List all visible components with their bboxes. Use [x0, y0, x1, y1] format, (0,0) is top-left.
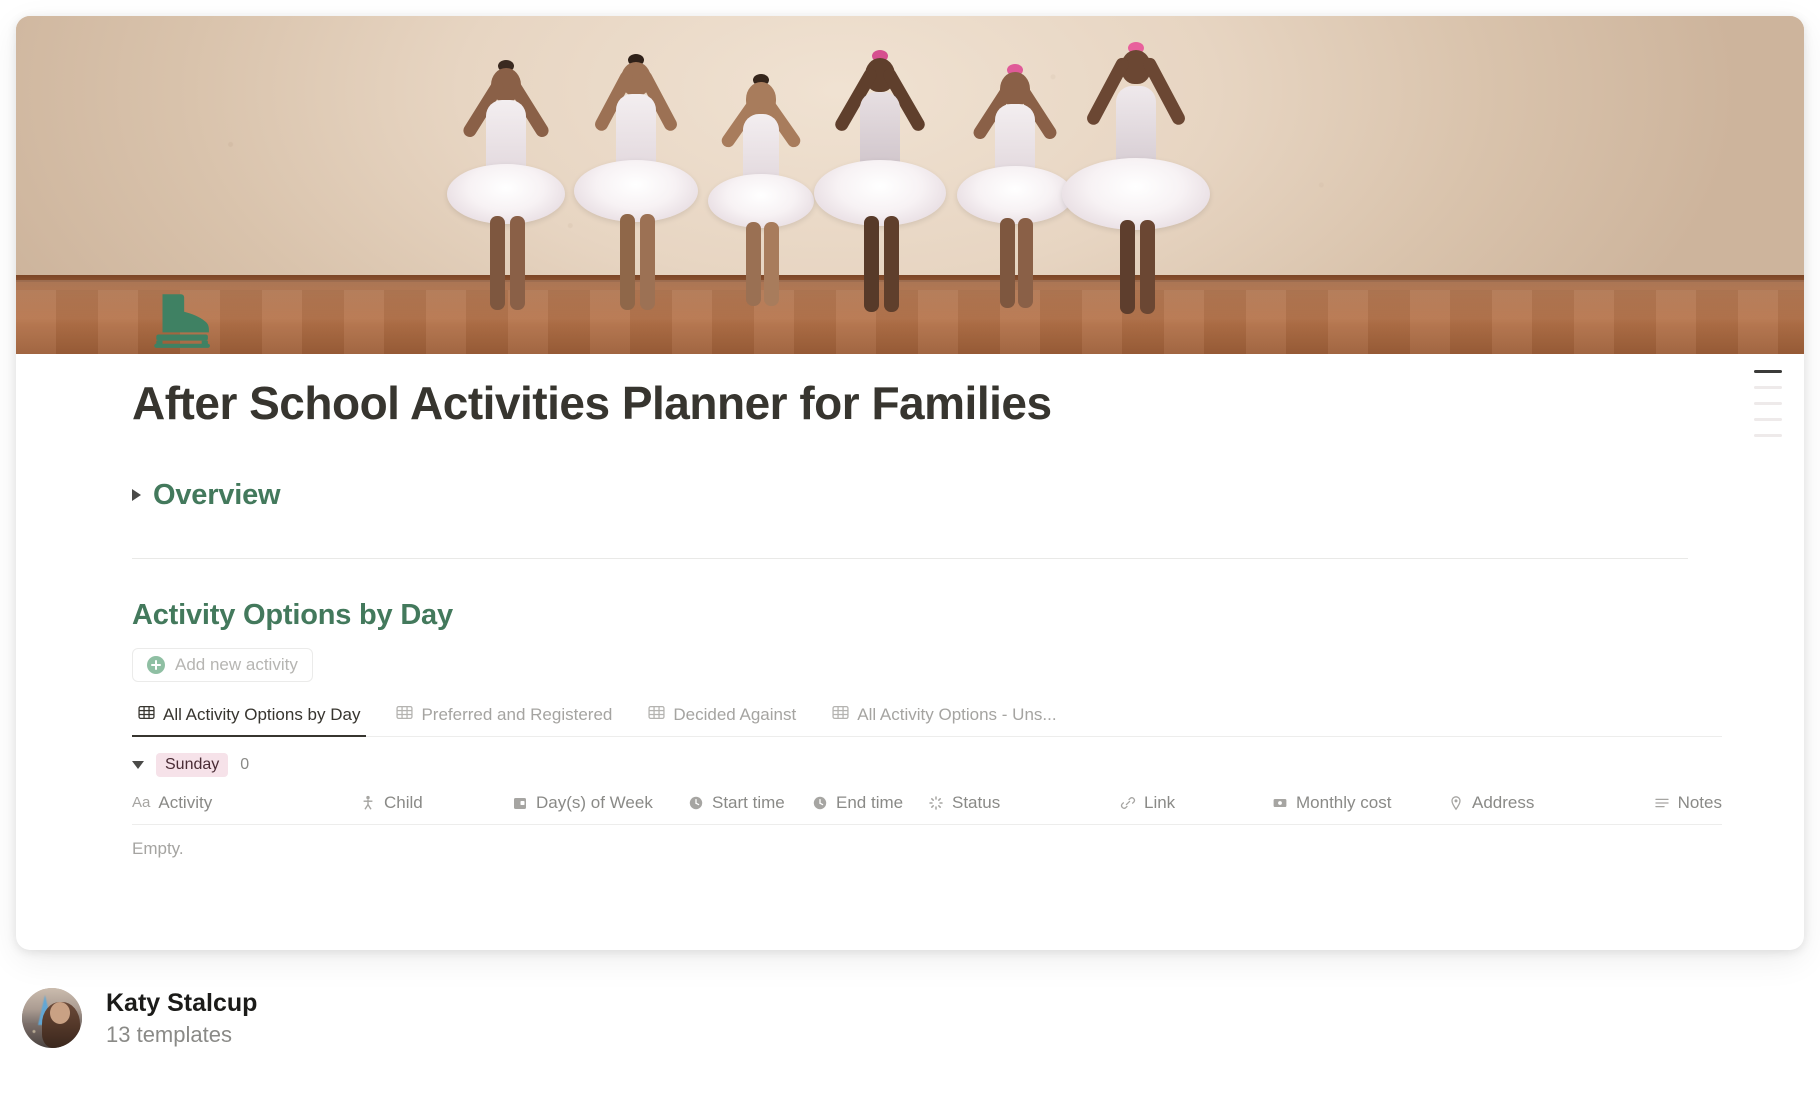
dancer-figure	[956, 64, 1074, 308]
avatar	[22, 988, 82, 1048]
clock-icon	[812, 795, 828, 811]
table-icon	[138, 704, 155, 726]
column-activity[interactable]: Aa Activity	[132, 793, 360, 813]
column-days-of-week[interactable]: Day(s) of Week	[512, 793, 688, 813]
column-start-time[interactable]: Start time	[688, 793, 812, 813]
column-link[interactable]: Link	[1120, 793, 1272, 813]
toc-bar[interactable]	[1754, 434, 1782, 437]
column-label: Activity	[158, 793, 212, 813]
text-aa-icon: Aa	[132, 794, 150, 811]
overview-label: Overview	[153, 479, 280, 512]
avatar-face	[50, 1002, 70, 1024]
column-label: Status	[952, 793, 1000, 813]
column-label: Address	[1472, 793, 1534, 813]
toc-bar[interactable]	[1754, 418, 1782, 421]
chevron-right-icon[interactable]	[132, 489, 141, 501]
cover-image[interactable]	[16, 16, 1804, 354]
table-icon	[648, 704, 665, 726]
add-new-activity-button[interactable]: Add new activity	[132, 648, 313, 682]
text-lines-icon	[1654, 795, 1670, 811]
column-label: Day(s) of Week	[536, 793, 653, 813]
column-label: Child	[384, 793, 423, 813]
dancer-figure	[576, 54, 696, 310]
table-icon	[396, 704, 413, 726]
database-view-tabs: All Activity Options by Day Preferred an…	[132, 700, 1722, 737]
clock-icon	[688, 795, 704, 811]
column-child[interactable]: Child	[360, 793, 512, 813]
column-monthly-cost[interactable]: Monthly cost	[1272, 793, 1448, 813]
table-empty-state: Empty.	[132, 825, 1688, 859]
table-header-row: Aa Activity Child	[132, 793, 1722, 825]
person-icon	[360, 795, 376, 811]
section-heading: Activity Options by Day	[132, 599, 1688, 632]
tab-label: All Activity Options - Uns...	[857, 705, 1056, 725]
column-label: Link	[1144, 793, 1175, 813]
overview-toggle[interactable]: Overview	[132, 479, 1688, 512]
dancer-figure	[446, 60, 566, 310]
plus-circle-icon	[147, 656, 165, 674]
tab-preferred-and-registered[interactable]: Preferred and Registered	[390, 700, 618, 736]
dancer-figure	[1066, 42, 1206, 314]
table-icon	[832, 704, 849, 726]
tab-decided-against[interactable]: Decided Against	[642, 700, 802, 736]
toc-bar[interactable]	[1754, 402, 1782, 405]
tab-label: Preferred and Registered	[421, 705, 612, 725]
table-of-contents-indicator[interactable]	[1748, 370, 1782, 437]
section-divider	[132, 558, 1688, 559]
tab-all-activity-options-by-day[interactable]: All Activity Options by Day	[132, 700, 366, 736]
tab-all-activity-options-unsorted[interactable]: All Activity Options - Uns...	[826, 700, 1062, 736]
link-icon	[1120, 795, 1136, 811]
tab-label: Decided Against	[673, 705, 796, 725]
page-card: After School Activities Planner for Fami…	[16, 16, 1804, 950]
calendar-icon	[512, 795, 528, 811]
column-label: Monthly cost	[1296, 793, 1391, 813]
money-icon	[1272, 795, 1288, 811]
map-pin-icon	[1448, 795, 1464, 811]
column-label: Notes	[1678, 793, 1722, 813]
author-name: Katy Stalcup	[106, 988, 257, 1018]
column-label: End time	[836, 793, 903, 813]
toc-bar-active[interactable]	[1754, 370, 1782, 373]
author-template-count: 13 templates	[106, 1022, 257, 1048]
chevron-down-icon[interactable]	[132, 761, 144, 769]
column-label: Start time	[712, 793, 785, 813]
group-count: 0	[240, 756, 249, 774]
dancer-figure	[816, 50, 944, 312]
page-title: After School Activities Planner for Fami…	[132, 378, 1688, 429]
author-info: Katy Stalcup 13 templates	[106, 988, 257, 1048]
dancer-figure	[706, 74, 816, 306]
add-button-label: Add new activity	[175, 655, 298, 675]
column-status[interactable]: Status	[928, 793, 1120, 813]
ice-skate-icon[interactable]	[146, 288, 212, 350]
group-badge: Sunday	[156, 753, 228, 777]
column-end-time[interactable]: End time	[812, 793, 928, 813]
toc-bar[interactable]	[1754, 386, 1782, 389]
column-address[interactable]: Address	[1448, 793, 1648, 813]
author-footer[interactable]: Katy Stalcup 13 templates	[22, 988, 257, 1048]
status-spinner-icon	[928, 795, 944, 811]
page-body: After School Activities Planner for Fami…	[16, 354, 1804, 859]
tab-label: All Activity Options by Day	[163, 705, 360, 725]
group-header-sunday[interactable]: Sunday 0	[132, 753, 1688, 777]
column-notes[interactable]: Notes	[1654, 793, 1722, 813]
